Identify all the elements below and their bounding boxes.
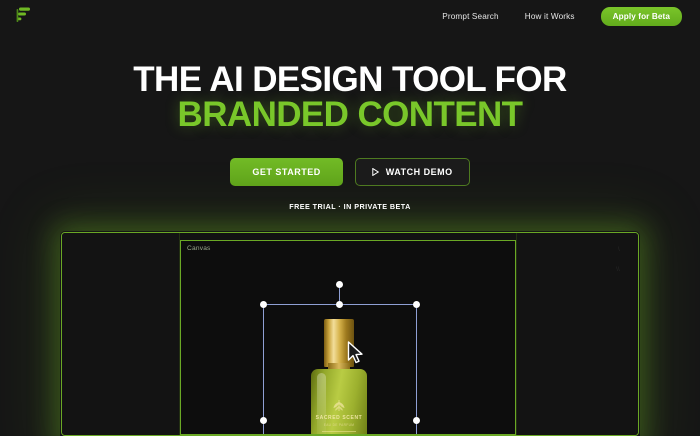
nav-link-prompt-search[interactable]: Prompt Search: [442, 12, 499, 21]
play-icon: [372, 168, 379, 176]
headline-line-2: BRANDED CONTENT: [0, 97, 700, 132]
nav-link-how-it-works[interactable]: How it Works: [525, 12, 575, 21]
cta-row: GET STARTED WATCH DEMO: [0, 158, 700, 186]
free-trial-tagline: FREE TRIAL · IN PRIVATE BETA: [0, 202, 700, 211]
mouse-pointer-icon: [347, 341, 364, 365]
headline-line-1: THE AI DESIGN TOOL FOR: [0, 62, 700, 97]
right-panel-ghost-row-2: \\: [616, 267, 620, 273]
resize-handle-top-right[interactable]: [413, 301, 420, 308]
app-canvas-panel[interactable]: Canvas SACRED: [180, 240, 516, 435]
right-panel-ghost-row-1: \: [618, 247, 620, 253]
watch-demo-button[interactable]: WATCH DEMO: [355, 158, 470, 186]
leaf-sprout-logo-icon: [14, 6, 32, 26]
rotate-handle[interactable]: [336, 281, 343, 288]
resize-handle-top-center[interactable]: [336, 301, 343, 308]
app-left-panel[interactable]: [62, 233, 180, 435]
resize-handle-top-left[interactable]: [260, 301, 267, 308]
top-navbar: Prompt Search How it Works Apply for Bet…: [0, 0, 700, 32]
resize-handle-bottom-right[interactable]: [413, 417, 420, 424]
app-preview-frame: Canvas SACRED: [61, 232, 639, 436]
nav-links: Prompt Search How it Works: [442, 12, 574, 21]
canvas-stage[interactable]: SACRED SCENT EAU DE PARFUM: [181, 241, 515, 434]
hero-section: THE AI DESIGN TOOL FOR BRANDED CONTENT G…: [0, 62, 700, 211]
watch-demo-label: WATCH DEMO: [386, 167, 453, 177]
resize-handle-bottom-left[interactable]: [260, 417, 267, 424]
page-title: THE AI DESIGN TOOL FOR BRANDED CONTENT: [0, 62, 700, 132]
get-started-button[interactable]: GET STARTED: [230, 158, 342, 186]
selection-bounding-box[interactable]: [263, 304, 417, 435]
apply-for-beta-button[interactable]: Apply for Beta: [601, 7, 682, 26]
app-right-panel[interactable]: \ \\: [516, 233, 638, 435]
brand-logo[interactable]: [10, 4, 36, 28]
page-root: Prompt Search How it Works Apply for Bet…: [0, 0, 700, 436]
